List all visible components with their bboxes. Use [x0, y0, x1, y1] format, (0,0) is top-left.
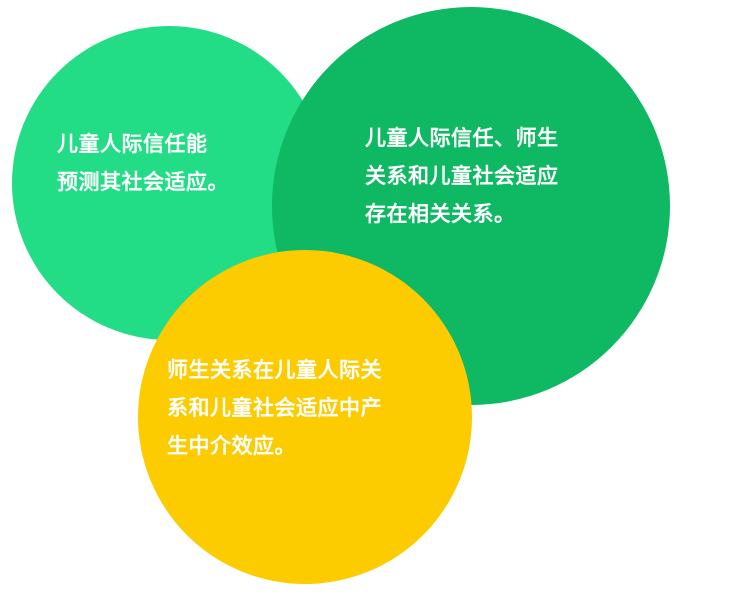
venn-label-dark-green: 儿童人际信任、师生 关系和儿童社会适应 存在相关关系。	[365, 120, 625, 234]
venn-label-yellow: 师生关系在儿童人际关 系和儿童社会适应中产 生中介效应。	[167, 352, 439, 466]
venn-diagram: 儿童人际信任能 预测其社会适应。 儿童人际信任、师生 关系和儿童社会适应 存在相…	[0, 0, 740, 602]
venn-label-light-green: 儿童人际信任能 预测其社会适应。	[57, 126, 297, 202]
